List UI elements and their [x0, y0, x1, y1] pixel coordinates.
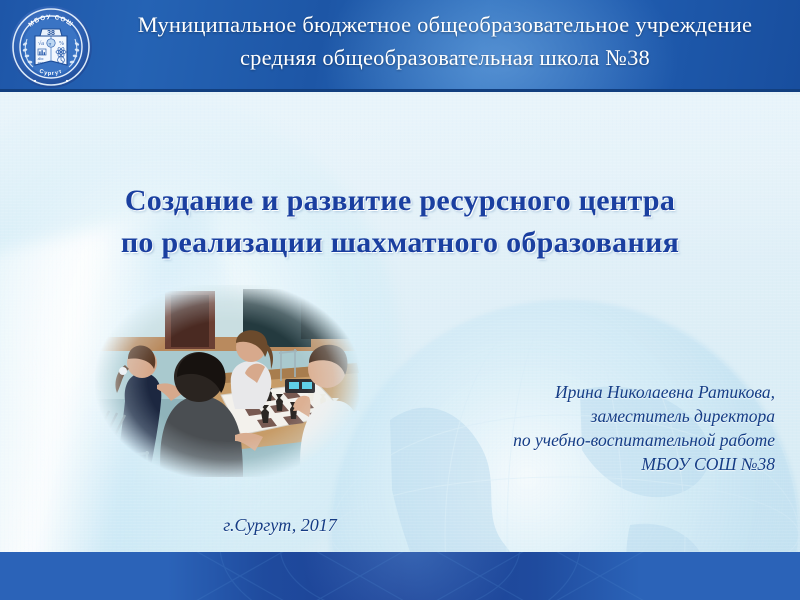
emblem-number: 38 [47, 30, 55, 37]
footer-pattern [0, 552, 800, 600]
school-name: Муниципальное бюджетное общеобразователь… [100, 8, 790, 74]
author-name: Ирина Николаевна Ратикова, [355, 380, 775, 404]
svg-text:√a: √a [38, 40, 44, 47]
slide-footer [0, 552, 800, 600]
svg-text:π: π [49, 41, 52, 47]
slide-header: Муниципальное бюджетное общеобразователь… [0, 0, 800, 92]
city-year: г.Сургут, 2017 [0, 515, 800, 536]
page-title: Создание и развитие ресурсного центра по… [0, 180, 800, 264]
school-name-line1: Муниципальное бюджетное общеобразователь… [138, 12, 752, 37]
svg-text:%: % [59, 41, 64, 47]
page-title-line2: по реализации шахматного образования [0, 222, 800, 264]
author-position-line2: по учебно-воспитательной работе [355, 428, 775, 452]
presentation-slide: Муниципальное бюджетное общеобразователь… [0, 0, 800, 600]
chess-photo-image [95, 285, 361, 477]
svg-text:где: где [38, 60, 44, 65]
chess-photo [95, 285, 361, 477]
school-name-line2: средняя общеобразовательная школа №38 [240, 45, 650, 70]
author-position-line1: заместитель директора [355, 404, 775, 428]
school-emblem-icon: √a % π abc где [9, 3, 93, 89]
page-title-line1: Создание и развитие ресурсного центра [0, 180, 800, 222]
author-info: Ирина Николаевна Ратикова, заместитель д… [355, 380, 775, 476]
author-organization: МБОУ СОШ №38 [355, 452, 775, 476]
